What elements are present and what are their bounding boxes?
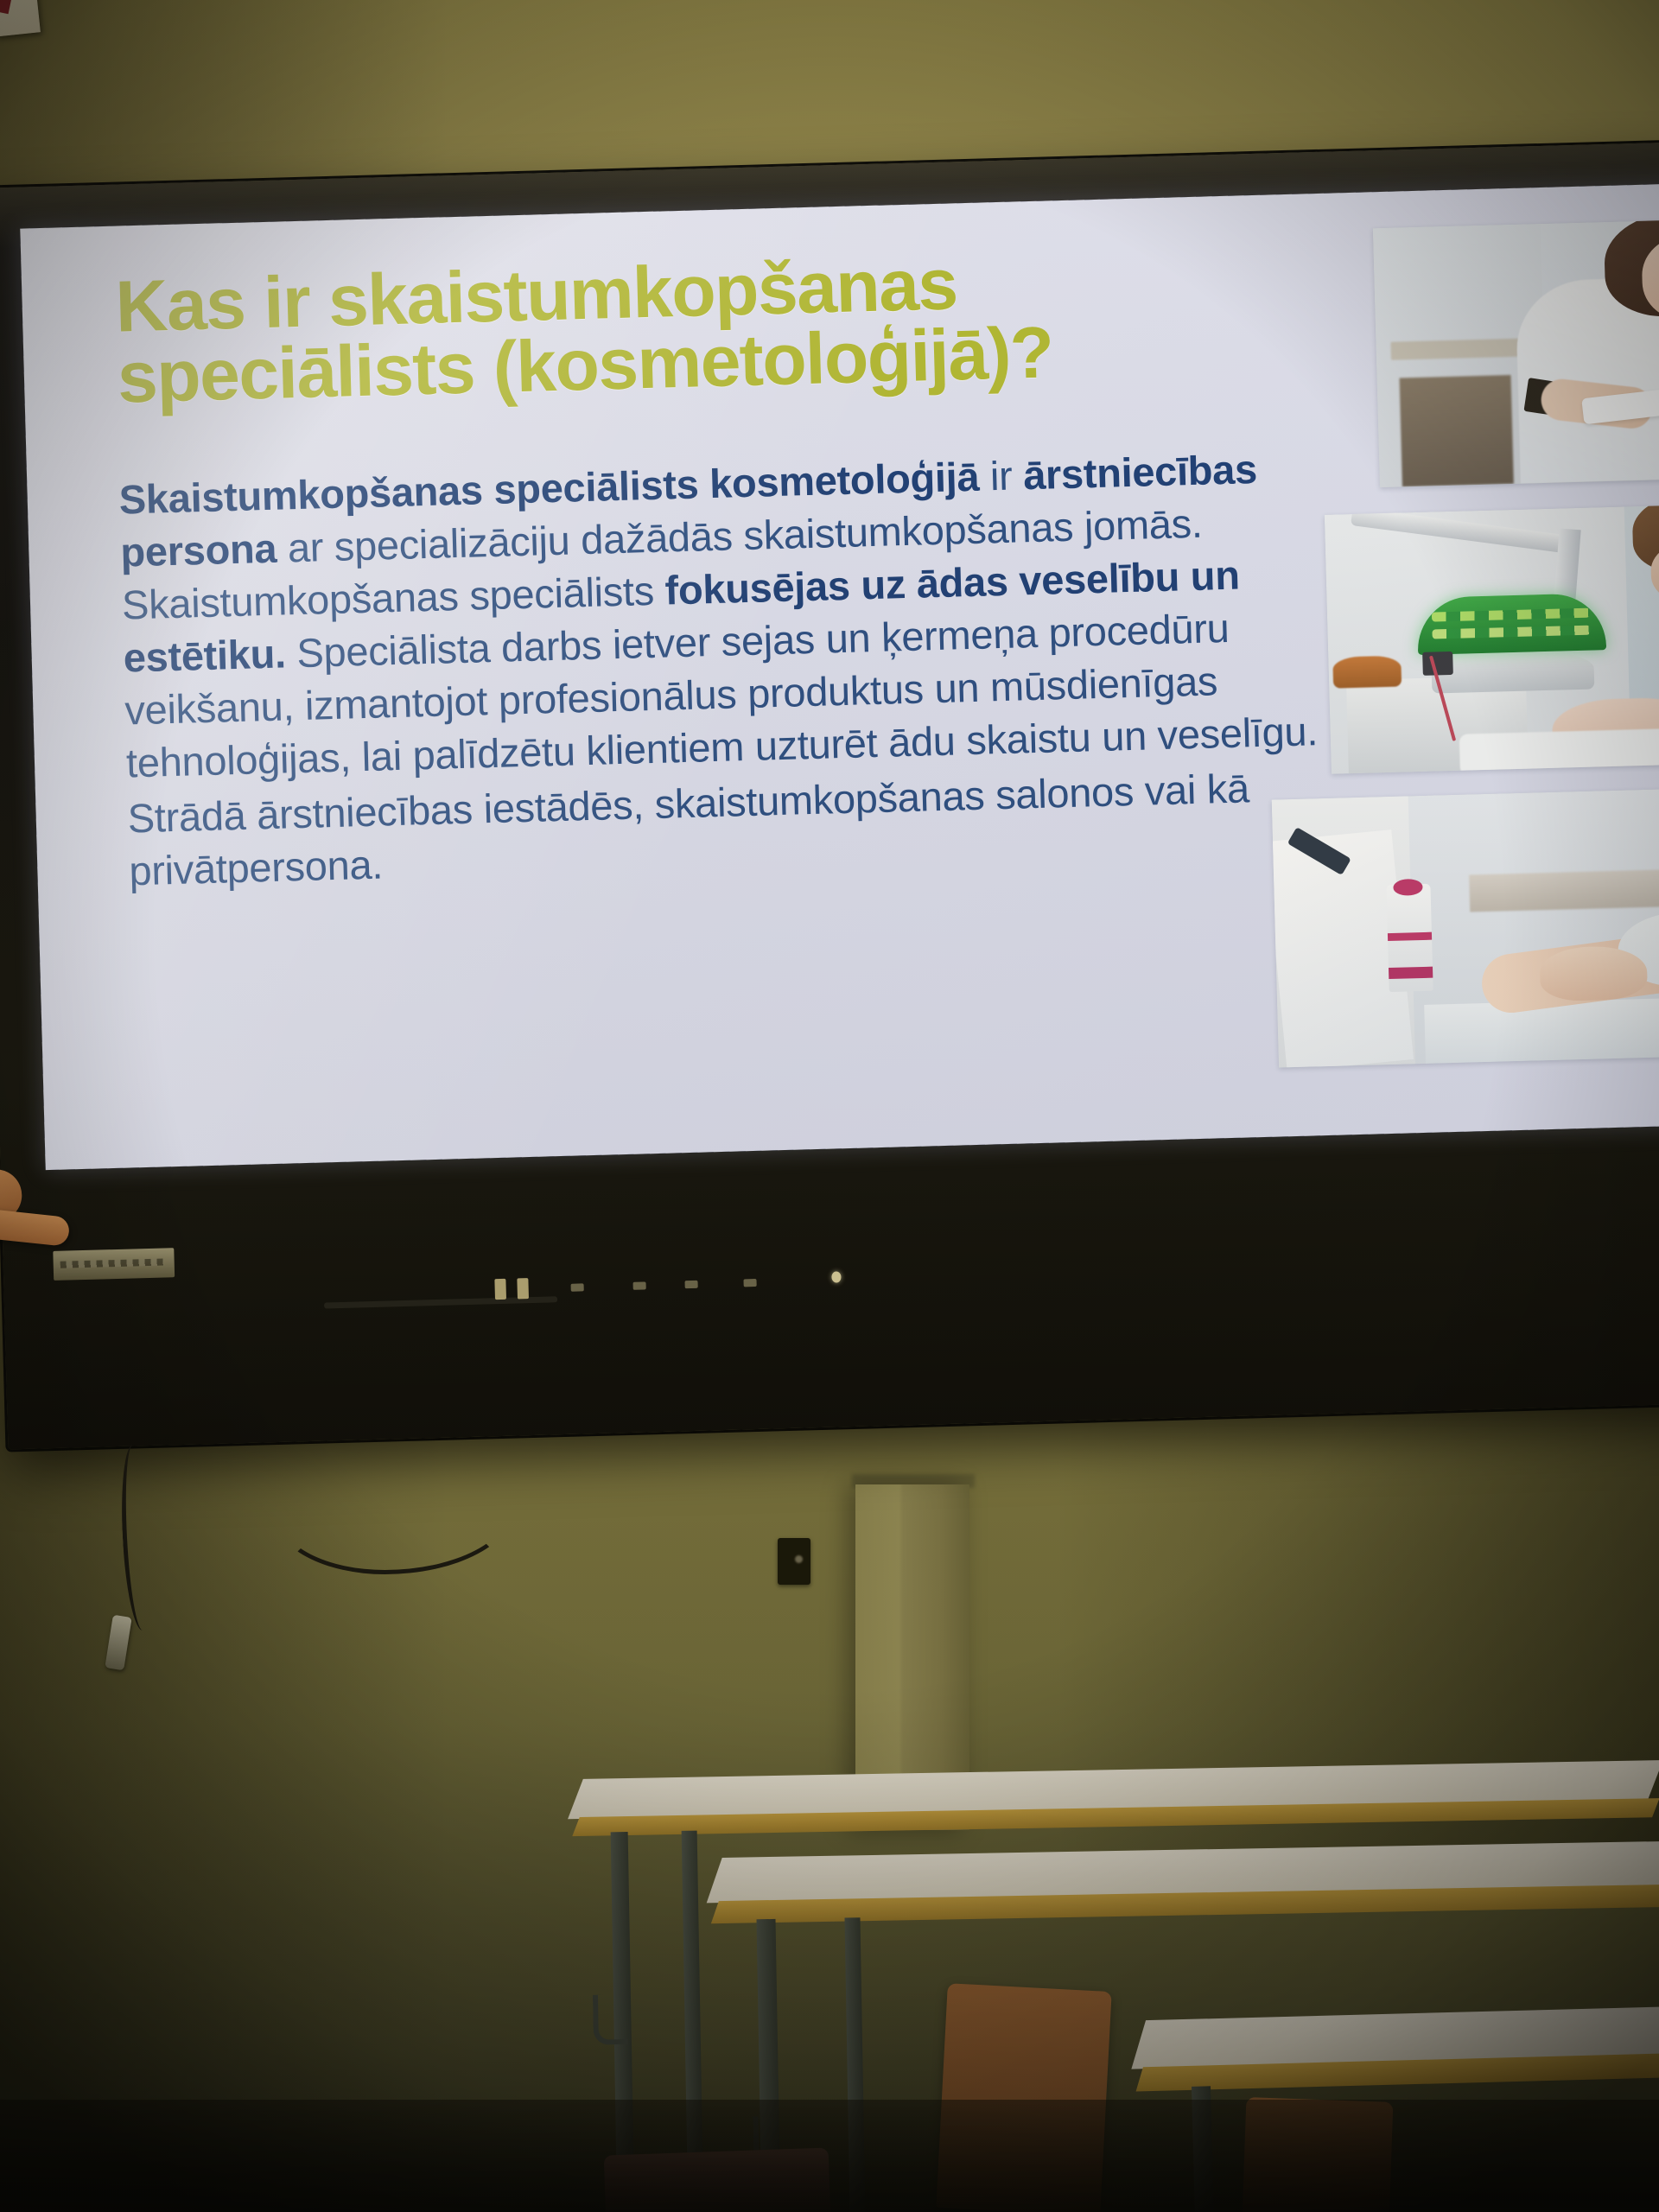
desk-bag-hook[interactable] xyxy=(593,1994,628,2045)
display-screen[interactable]: Kas ir skaistumkopšanas speciālists (kos… xyxy=(20,182,1659,1170)
pointing-finger xyxy=(0,1209,71,1247)
volume-down-button[interactable] xyxy=(571,1283,584,1291)
pointing-hand xyxy=(0,1163,100,1293)
display-control-buttons[interactable] xyxy=(487,1264,860,1309)
interactive-flat-panel-display[interactable]: Kas ir skaistumkopšanas speciālists (kos… xyxy=(0,142,1659,1449)
photo-cosmetologist-with-client xyxy=(1373,219,1659,488)
classroom-scene: Kas ir skaistumkopšanas speciālists (kos… xyxy=(0,0,1659,2212)
slide-paragraph-1: Skaistumkopšanas speciālists kosmetoloģi… xyxy=(118,441,1319,790)
slide-title: Kas ir skaistumkopšanas speciālists (kos… xyxy=(115,239,1285,413)
menu-button[interactable] xyxy=(517,1278,529,1299)
plain-run-1: ir xyxy=(978,452,1023,499)
input-button[interactable] xyxy=(684,1281,697,1288)
status-led-icon xyxy=(831,1271,841,1282)
photo-led-light-therapy xyxy=(1325,503,1659,773)
photo-hand-treatment-products xyxy=(1272,786,1659,1067)
corner-wall-object xyxy=(0,0,41,37)
volume-up-button[interactable] xyxy=(633,1281,646,1289)
power-button[interactable] xyxy=(494,1279,506,1300)
display-bezel: Kas ir skaistumkopšanas speciālists (kos… xyxy=(0,142,1659,1449)
plain-run-3: Speciālista darbs ietver sejas un ķermeņ… xyxy=(124,605,1319,786)
floor-shadow xyxy=(0,2100,1659,2212)
wall-power-socket[interactable] xyxy=(778,1538,810,1585)
slide-body-text: Skaistumkopšanas speciālists kosmetoloģi… xyxy=(118,441,1322,897)
home-button[interactable] xyxy=(743,1279,756,1287)
presentation-slide: Kas ir skaistumkopšanas speciālists (kos… xyxy=(20,182,1659,1170)
